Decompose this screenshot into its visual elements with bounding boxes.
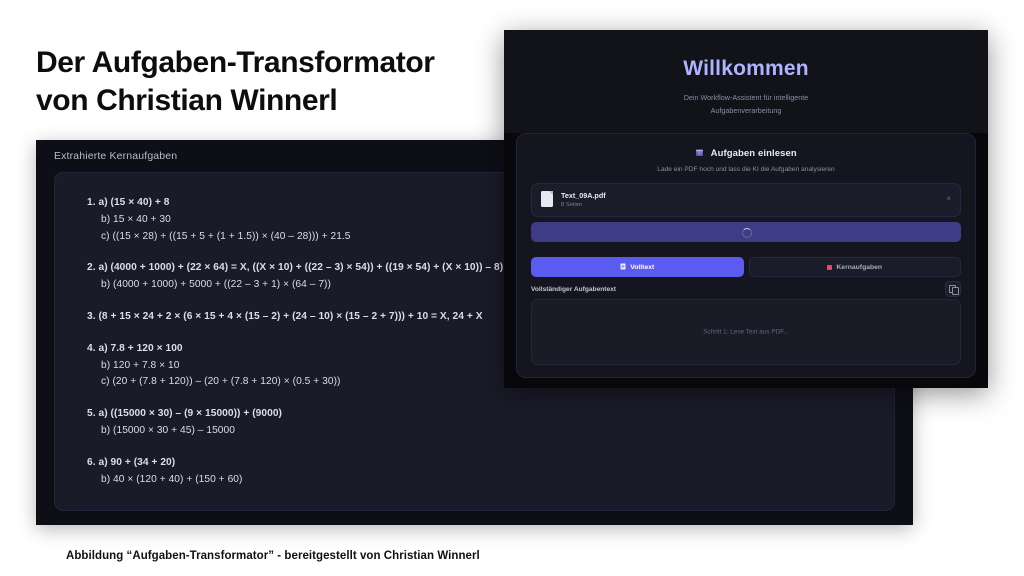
task-group: 6. a) 90 + (34 + 20) b) 40 × (120 + 40) …: [87, 455, 874, 489]
loading-spinner-icon: [742, 228, 752, 238]
textarea-placeholder: Schritt 1: Lese Text aus PDF...: [532, 329, 960, 336]
tab-volltext[interactable]: Volltext: [531, 257, 744, 277]
app-hero: Willkommen Dein Workflow-Assistent für i…: [504, 30, 988, 133]
app-hero-title: Willkommen: [504, 57, 988, 81]
app-window: Willkommen Dein Workflow-Assistent für i…: [504, 30, 988, 388]
upload-card: Aufgaben einlesen Lade ein PDF hoch und …: [516, 133, 976, 378]
uploaded-file-row[interactable]: Text_09A.pdf 8 Seiten ×: [531, 183, 961, 217]
figure-caption: Abbildung “Aufgaben-Transformator” - ber…: [66, 550, 480, 562]
extracted-tasks-heading: Extrahierte Kernaufgaben: [54, 150, 177, 162]
page-title: Der Aufgaben-Transformator von Christian…: [36, 44, 506, 120]
task-group: 5. a) ((15000 × 30) – (9 × 15000)) + (90…: [87, 406, 874, 440]
task-line: b) (15000 × 30 + 45) – 15000: [87, 423, 874, 440]
tasks-icon: [827, 265, 832, 270]
upload-card-header: Aufgaben einlesen Lade ein PDF hoch und …: [517, 148, 975, 173]
task-line: 5. a) ((15000 × 30) – (9 × 15000)) + (90…: [87, 406, 874, 423]
document-icon: [620, 263, 626, 272]
tab-kernaufgaben-label: Kernaufgaben: [836, 264, 882, 271]
upload-card-title-row: Aufgaben einlesen: [517, 148, 975, 160]
tab-kernaufgaben[interactable]: Kernaufgaben: [749, 257, 962, 277]
task-line: b) 40 × (120 + 40) + (150 + 60): [87, 472, 874, 489]
task-line: 6. a) 90 + (34 + 20): [87, 455, 874, 472]
remove-file-icon[interactable]: ×: [946, 195, 951, 203]
pdf-file-icon: [541, 191, 553, 207]
upload-document-icon: [695, 148, 704, 160]
copy-icon[interactable]: [945, 281, 961, 297]
upload-card-title: Aufgaben einlesen: [711, 148, 797, 159]
aufgabentext-textarea[interactable]: Schritt 1: Lese Text aus PDF...: [531, 299, 961, 365]
app-hero-subtitle: Dein Workflow-Assistent für intelligente…: [614, 91, 878, 117]
uploaded-file-meta: 8 Seiten: [561, 202, 582, 208]
analyze-progress-button[interactable]: [531, 222, 961, 242]
textarea-label: Vollständiger Aufgabentext: [531, 286, 616, 293]
content-tabs: Volltext Kernaufgaben: [531, 257, 961, 277]
uploaded-file-name: Text_09A.pdf: [561, 191, 606, 200]
upload-card-subtitle: Lade ein PDF hoch und lass die KI die Au…: [517, 166, 975, 173]
tab-volltext-label: Volltext: [630, 264, 654, 271]
